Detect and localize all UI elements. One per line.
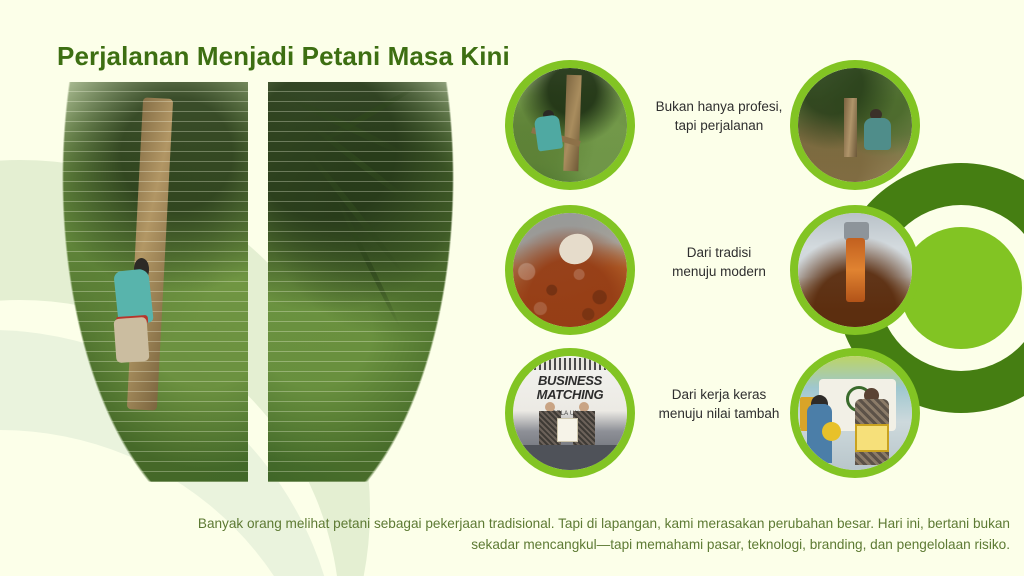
banner-headline: BUSINESSMATCHING [524, 374, 615, 401]
sugar-granules [513, 256, 627, 327]
circle-photo-processing-machine [790, 205, 920, 335]
circle-photo-inner [513, 213, 627, 327]
sugar-stream [846, 238, 865, 302]
circle-photo-palm-sugar [505, 205, 635, 335]
circle-photo-inner [513, 68, 627, 182]
tree-stump [844, 98, 858, 157]
tree-trunk [564, 75, 582, 171]
signed-document [557, 418, 577, 443]
circle-photo-palm-climber [505, 60, 635, 190]
leaf-half-right [268, 82, 456, 482]
palm-climber-photo [513, 68, 627, 182]
photo-caption-grid: Bukan hanya profesi, tapi perjalanan Dar… [498, 55, 944, 495]
leaf-half-left [60, 82, 248, 482]
circle-photo-inner: BUSINESSMATCHING PELA UNAN [513, 356, 627, 470]
leaf-right-mask [268, 82, 456, 482]
banner-headline-line2: MATCHING [537, 387, 604, 402]
circle-photo-inner [798, 356, 912, 470]
award-certificate [855, 424, 889, 452]
palm-sugar-photo [513, 213, 627, 327]
presentation-slide: Perjalanan Menjadi Petani Masa Kini [0, 0, 1024, 576]
climbing-farmer-photo [60, 82, 248, 482]
bottom-note: Banyak orang melihat petani sebagai peke… [180, 513, 1010, 555]
circle-photo-award-ceremony [790, 348, 920, 478]
banner-subtitle: PELA UNAN [522, 411, 618, 417]
caption-three: Dari kerja keras menuju nilai tambah [638, 385, 800, 423]
palm-frond [300, 143, 404, 274]
banner-top-stripes [534, 358, 607, 369]
split-leaf-collage [60, 82, 460, 482]
circle-photo-forest-farmer [790, 60, 920, 190]
foreground-table [513, 445, 627, 470]
yellow-helmet [822, 422, 841, 441]
business-matching-photo: BUSINESSMATCHING PELA UNAN [513, 356, 627, 470]
palm-grove-photo [268, 82, 456, 482]
climbing-farmer-figure [109, 258, 165, 362]
forest-farmer-photo [798, 68, 912, 182]
circle-photo-business-matching: BUSINESSMATCHING PELA UNAN [505, 348, 635, 478]
processing-machine-photo [798, 213, 912, 327]
leaf-left-mask [60, 82, 248, 482]
award-ceremony-photo [798, 356, 912, 470]
circle-photo-inner [798, 68, 912, 182]
caption-two: Dari tradisi menuju modern [638, 243, 800, 281]
farmer-pants [113, 317, 149, 363]
farmer-body [864, 118, 891, 150]
caption-one: Bukan hanya profesi, tapi perjalanan [638, 97, 800, 135]
page-title: Perjalanan Menjadi Petani Masa Kini [57, 41, 510, 72]
circle-photo-inner [798, 213, 912, 327]
climber-body [534, 114, 564, 151]
